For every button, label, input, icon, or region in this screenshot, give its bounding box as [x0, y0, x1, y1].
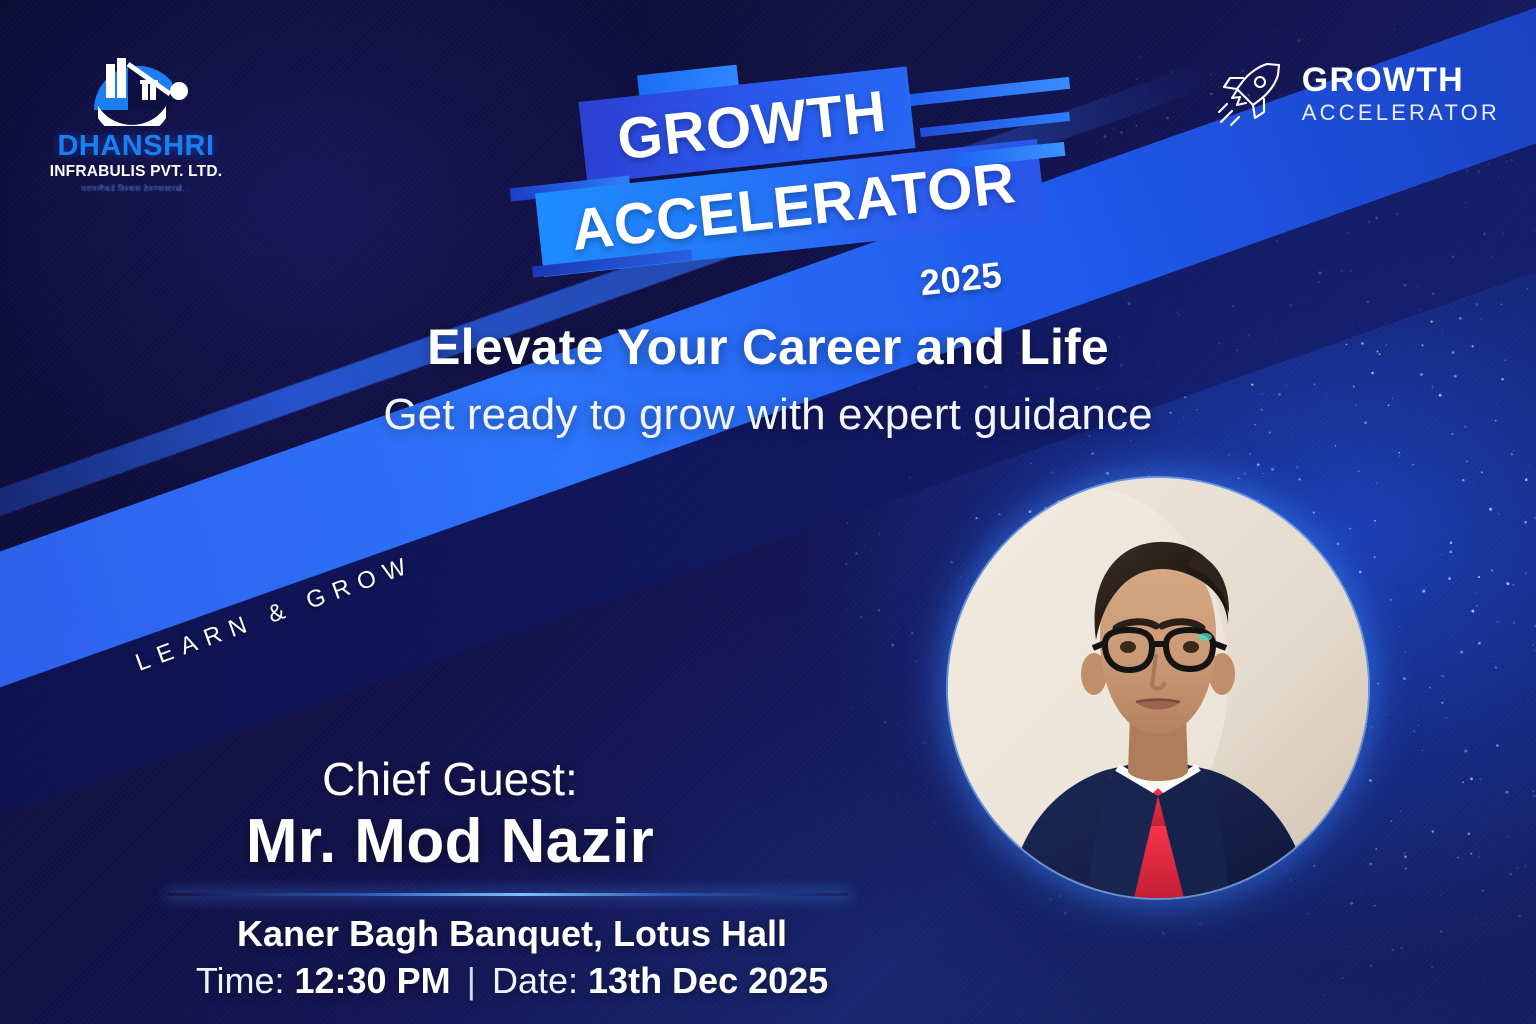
event-title-lockup: GROWTH ACCELERATOR 2025 [520, 62, 1080, 282]
time-label: Time: [196, 960, 285, 1001]
dhanshri-subtitle: INFRABULIS PVT. LTD. [26, 164, 246, 180]
headline-primary: Elevate Your Career and Life [0, 318, 1536, 376]
chief-guest-label: Chief Guest: [0, 752, 900, 806]
date-label: Date: [492, 960, 578, 1001]
date-value: 13th Dec 2025 [588, 960, 828, 1001]
chief-guest-photo [948, 478, 1368, 898]
headline-secondary: Get ready to grow with expert guidance [0, 390, 1536, 440]
dhanshri-wordmark: DHANSHRI [26, 132, 246, 161]
event-year: 2025 [918, 254, 1004, 305]
chief-guest-name: Mr. Mod Nazir [0, 806, 900, 877]
portrait-circle [948, 478, 1368, 898]
ga-logo-line2: ACCELERATOR [1302, 102, 1500, 124]
time-value: 12:30 PM [295, 960, 451, 1001]
event-poster: DHANSHRI INFRABULIS PVT. LTD. घरापलीकडे … [0, 0, 1536, 1024]
growth-accelerator-logo: GROWTH ACCELERATOR [1212, 56, 1500, 130]
venue-text: Kaner Bagh Banquet, Lotus Hall [0, 913, 1024, 955]
glow-divider [168, 893, 848, 896]
dhanshri-logo-mark [76, 48, 196, 126]
time-and-date-text: Time: 12:30 PM | Date: 13th Dec 2025 [0, 960, 1024, 1002]
ga-logo-line1: GROWTH [1302, 63, 1500, 97]
time-date-separator: | [461, 960, 482, 1001]
lockup-strip-a [900, 77, 1070, 107]
dhanshri-logo: DHANSHRI INFRABULIS PVT. LTD. घरापलीकडे … [26, 48, 246, 194]
dhanshri-tagline: घरापलीकडे विश्वास ठेवण्यासारखे... [26, 184, 246, 194]
lockup-strip-b [920, 112, 1070, 137]
rocket-icon [1212, 56, 1286, 130]
